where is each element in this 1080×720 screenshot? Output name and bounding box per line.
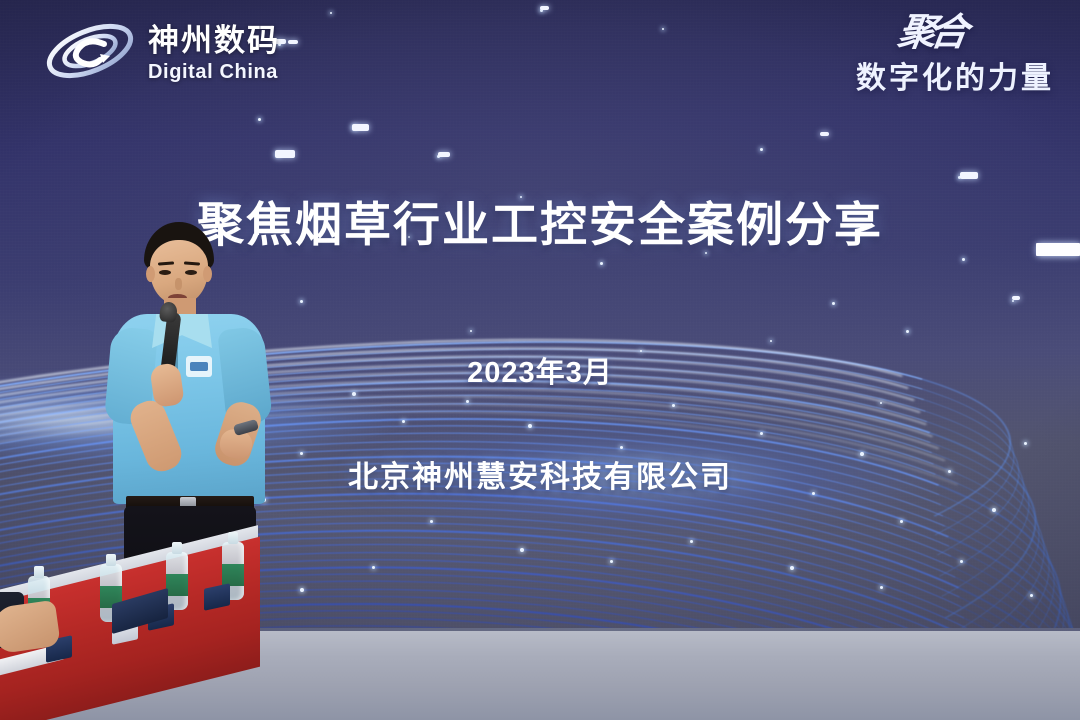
- light-particle-dash: [352, 124, 369, 131]
- light-particle: [1030, 594, 1033, 597]
- light-particle: [352, 392, 356, 396]
- light-particle-dash: [1012, 296, 1020, 300]
- light-particle: [528, 424, 532, 428]
- light-particle: [790, 566, 794, 570]
- light-particle-dash: [820, 132, 829, 136]
- presenter-ear-right: [203, 266, 212, 282]
- light-particle: [430, 520, 433, 523]
- juhe-tagline: 数字化的力量: [856, 53, 1054, 97]
- light-particle: [466, 400, 469, 403]
- light-particle: [962, 258, 965, 261]
- light-particle: [760, 432, 763, 435]
- presenter-eye-left: [159, 270, 171, 275]
- presenter-nose: [175, 278, 182, 290]
- juhe-brand-lockup: 聚合 数字化的力量: [856, 18, 1054, 97]
- light-particle: [880, 402, 882, 404]
- light-particle-dash: [275, 150, 295, 158]
- light-particle: [470, 330, 472, 332]
- light-particle-dash: [960, 172, 978, 179]
- light-particle: [610, 560, 613, 563]
- light-particle-dash: [540, 6, 549, 10]
- light-particle: [1024, 442, 1027, 445]
- light-particle: [600, 262, 603, 265]
- light-particle: [300, 300, 303, 303]
- juhe-calligraphy: 聚合: [854, 18, 964, 49]
- light-particle: [880, 586, 883, 589]
- light-particle-dash: [288, 40, 298, 44]
- light-particle: [372, 566, 375, 569]
- light-particle: [900, 520, 903, 523]
- light-particle: [760, 148, 763, 151]
- light-particle: [770, 340, 772, 342]
- digital-china-wordmark: 神州数码 Digital China: [148, 21, 280, 82]
- presenter-shirt-logo: [186, 356, 212, 377]
- light-particle: [520, 548, 524, 552]
- light-particle: [300, 588, 304, 592]
- light-particle: [330, 12, 332, 14]
- light-particle-dash: [438, 152, 450, 157]
- light-particle: [402, 420, 405, 423]
- water-bottle: [166, 552, 188, 610]
- light-particle: [258, 118, 261, 121]
- light-particle: [906, 330, 909, 333]
- conference-stage-photo: 神州数码 Digital China 聚合 数字化的力量 聚焦烟草行业工控安全案…: [0, 0, 1080, 720]
- light-particle: [960, 560, 963, 563]
- light-particle: [832, 302, 835, 305]
- light-particle: [662, 28, 664, 30]
- light-particle: [992, 508, 996, 512]
- light-particle: [620, 446, 623, 449]
- light-particle: [672, 404, 675, 407]
- light-particle: [1012, 300, 1014, 302]
- presenter-ear-left: [146, 266, 155, 282]
- brand-name-english: Digital China: [148, 62, 280, 82]
- presenter-eye-right: [185, 270, 197, 275]
- digital-china-logo: 神州数码 Digital China: [42, 14, 280, 88]
- digital-china-swirl-icon: [42, 14, 138, 88]
- brand-name-chinese: 神州数码: [148, 25, 280, 56]
- light-particle: [690, 540, 693, 543]
